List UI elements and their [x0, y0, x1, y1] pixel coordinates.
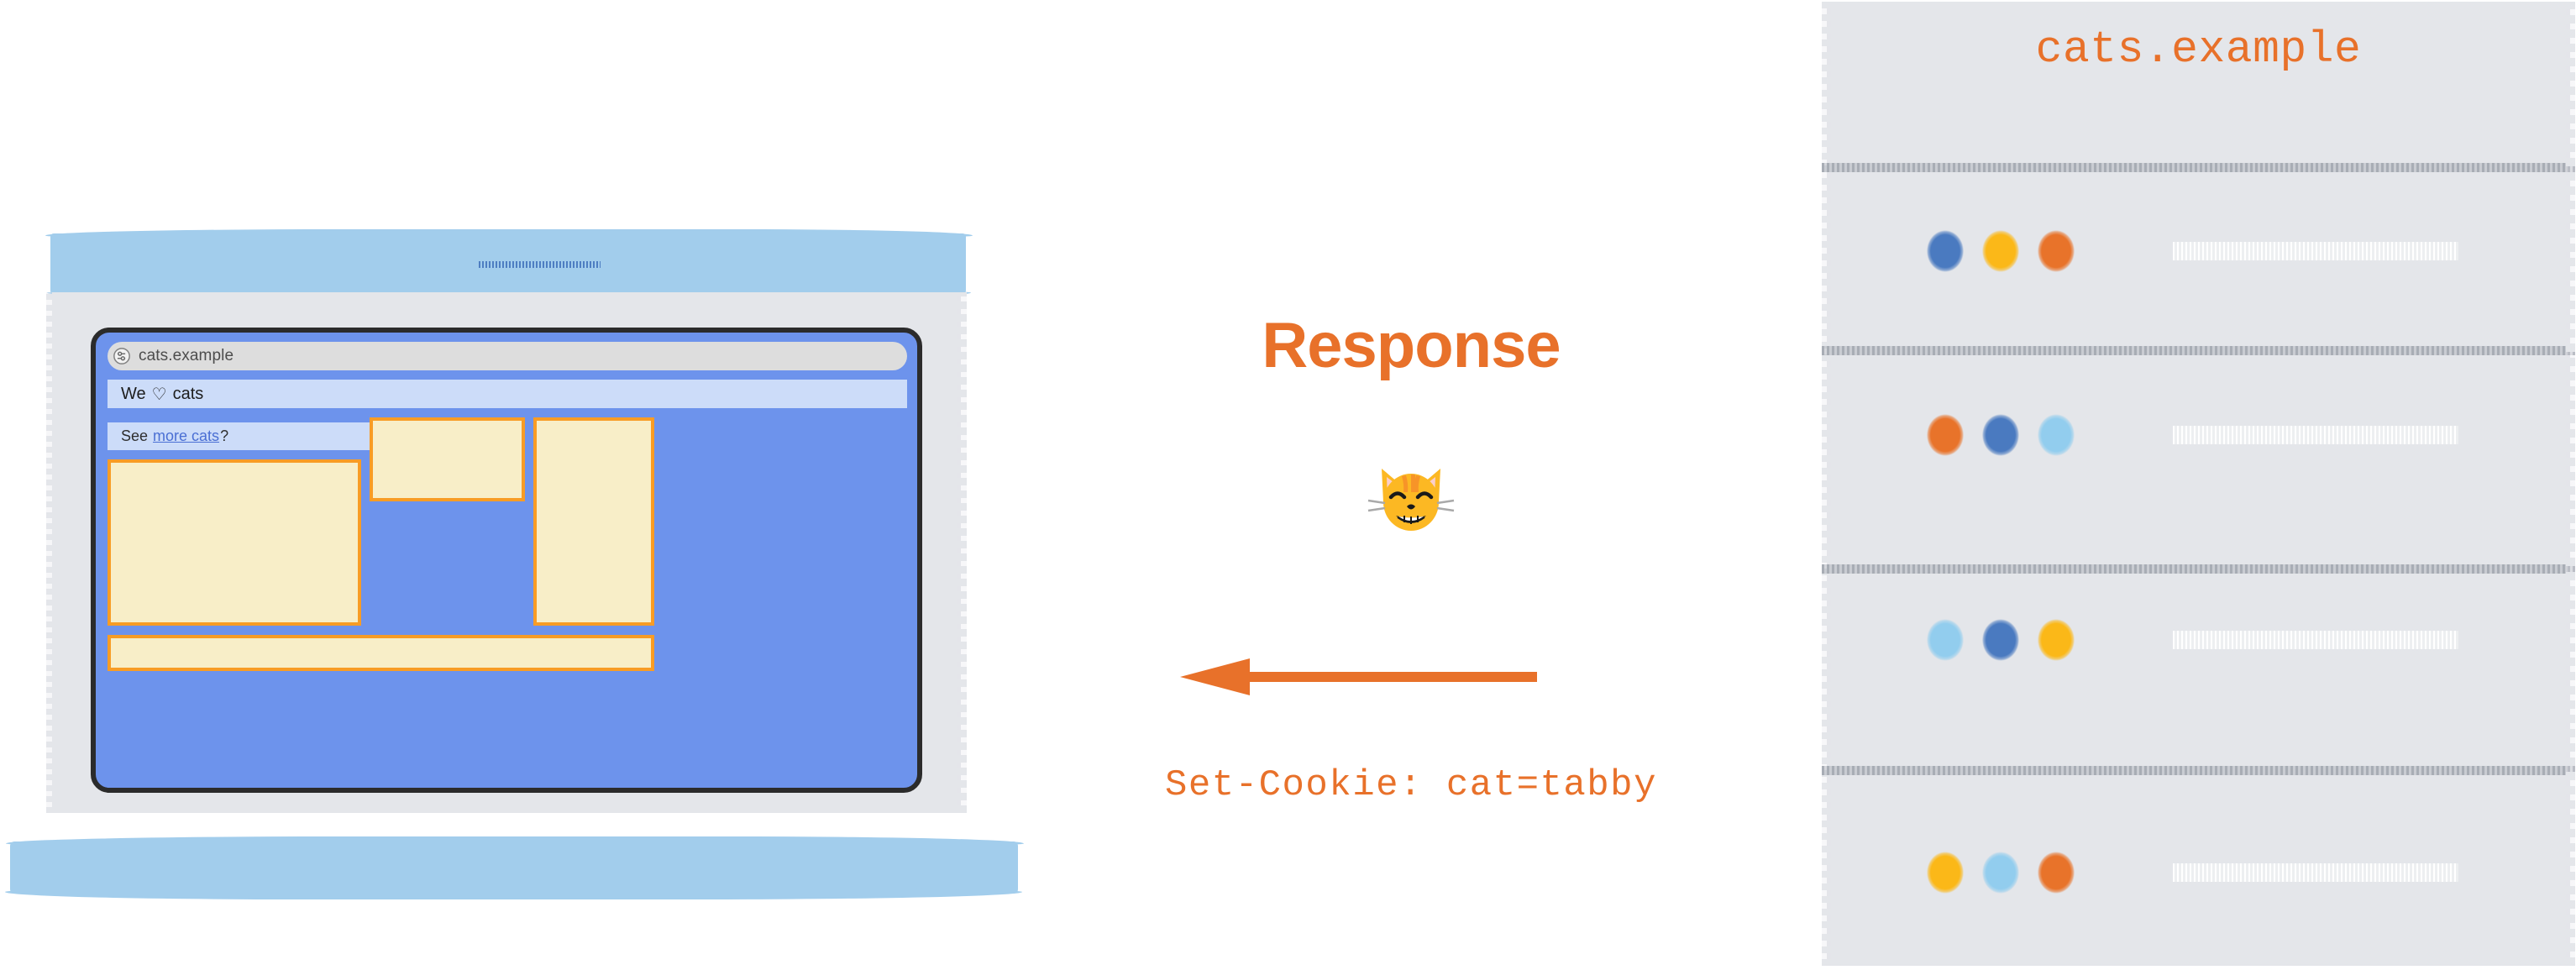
status-dot [1926, 851, 1965, 894]
status-dot [1926, 618, 1965, 662]
row-separator [1822, 346, 2575, 355]
server-row[interactable] [1827, 408, 2570, 462]
laptop-hinge-scribble [479, 261, 601, 268]
row-separator [1822, 163, 2575, 172]
page-heading-after: cats [173, 385, 204, 404]
footer-block [108, 635, 654, 671]
page-heading-before: We [121, 385, 146, 404]
top-thumbnail-block [370, 417, 525, 501]
status-dot [1926, 229, 1965, 273]
row-text-line [2173, 426, 2458, 444]
status-dot [1981, 618, 2020, 662]
laptop-lid [50, 233, 966, 294]
status-dot [1981, 851, 2020, 894]
sidebar-block [533, 417, 654, 626]
response-arrow [1180, 653, 1537, 700]
heart-icon: ♡ [152, 384, 167, 405]
more-cats-link[interactable]: more cats [153, 427, 219, 445]
response-title: Response [1117, 309, 1705, 382]
browser-address-bar[interactable]: cats.example [108, 342, 907, 370]
server-row[interactable] [1827, 224, 2570, 278]
server-row[interactable] [1827, 613, 2570, 667]
browser-window: cats.example We ♡ cats See more cats ? [91, 328, 922, 793]
row-text-line [2173, 863, 2458, 882]
status-dot [1981, 229, 2020, 273]
server-row[interactable] [1827, 846, 2570, 899]
arrow-left-icon [1180, 653, 1537, 700]
page-heading: We ♡ cats [108, 380, 907, 408]
laptop-base [10, 842, 1018, 894]
grinning-cat-face-icon [1365, 454, 1457, 541]
row-text-line [2173, 242, 2458, 260]
set-cookie-header: Set-Cookie: cat=tabby [1117, 764, 1705, 806]
row-separator [1822, 564, 2575, 574]
cat-emoji [1117, 454, 1705, 545]
status-dot [1981, 413, 2020, 457]
response-column: Response [1117, 0, 1705, 970]
link-row-suffix: ? [220, 427, 228, 445]
status-dot [2037, 618, 2075, 662]
status-dot [2037, 229, 2075, 273]
link-row-prefix: See [121, 427, 148, 445]
server-title: cats.example [1827, 24, 2570, 75]
row-text-line [2173, 631, 2458, 649]
main-article-block [108, 459, 361, 626]
status-dot [1926, 413, 1965, 457]
server-panel: cats.example [1827, 2, 2570, 966]
address-bar-url: cats.example [139, 347, 233, 365]
status-dot [2037, 851, 2075, 894]
status-dot [2037, 413, 2075, 457]
row-separator [1822, 766, 2575, 775]
tune-circle-icon [113, 347, 131, 365]
